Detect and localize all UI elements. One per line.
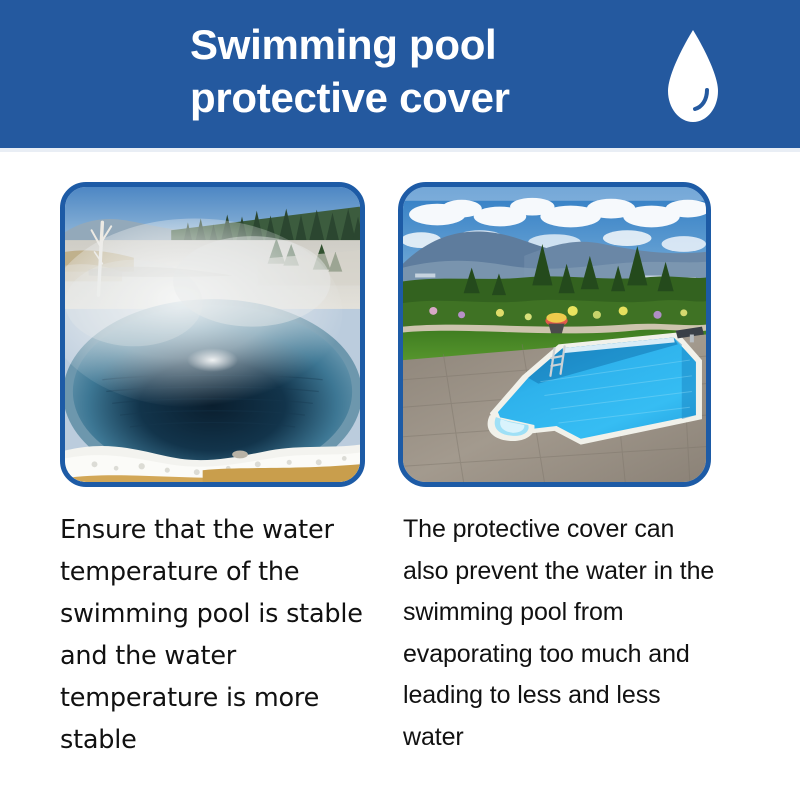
image-frame-left — [60, 182, 365, 487]
panel-right: The protective cover can also prevent th… — [375, 152, 740, 800]
poster-page: Swimming pool protective cover — [0, 0, 800, 800]
header-title-block: Swimming pool protective cover — [190, 18, 660, 130]
header-banner: Swimming pool protective cover — [0, 0, 800, 148]
backyard-swimming-pool-photo — [403, 187, 706, 482]
caption-right: The protective cover can also prevent th… — [403, 509, 723, 758]
caption-left: Ensure that the water temperature of the… — [60, 509, 380, 761]
hot-spring-pool-photo — [65, 187, 360, 482]
content-columns: Ensure that the water temperature of the… — [0, 152, 800, 800]
image-frame-right — [398, 182, 711, 487]
water-drop-icon — [662, 28, 724, 124]
panel-left: Ensure that the water temperature of the… — [0, 152, 375, 800]
page-title: Swimming pool protective cover — [190, 18, 660, 124]
